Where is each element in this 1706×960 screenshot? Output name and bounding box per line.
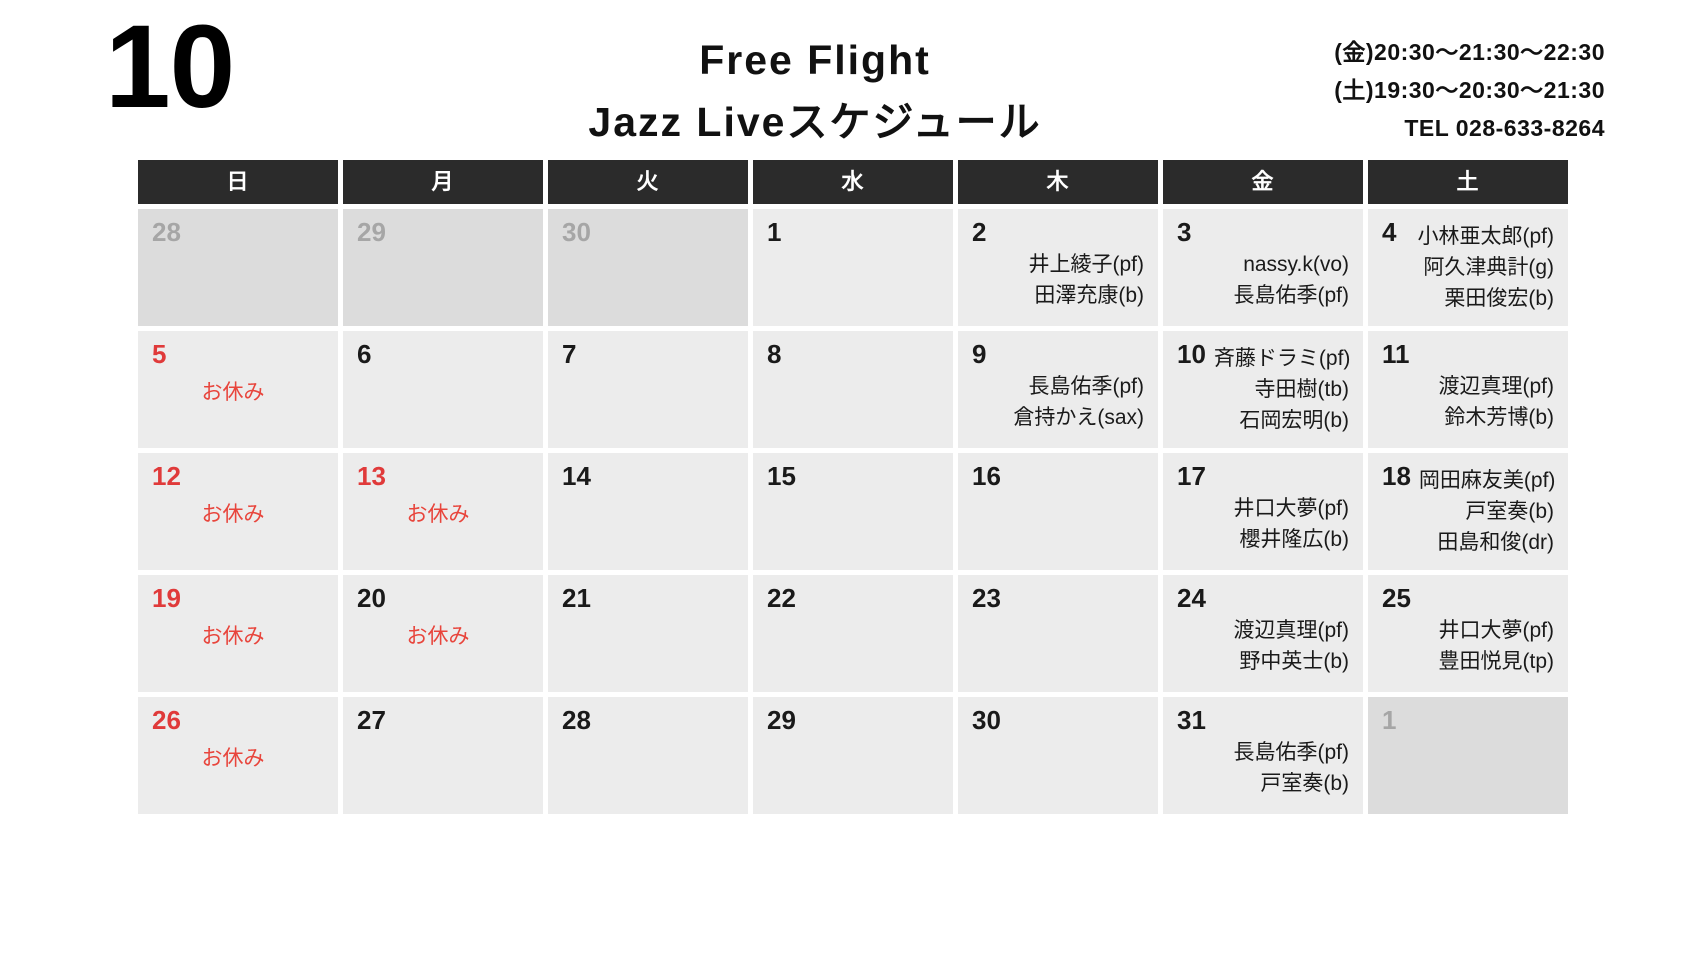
telephone-number: TEL 028-633-8264	[1334, 110, 1605, 148]
day-cell[interactable]: 19お休み	[138, 575, 338, 692]
day-number: 7	[562, 340, 734, 369]
weekday-header-5: 金	[1163, 160, 1363, 204]
day-number: 23	[972, 584, 1144, 613]
calendar-page: 10 Free Flight Jazz Liveスケジュール (金)20:30〜…	[0, 0, 1706, 960]
day-number: 13	[357, 462, 529, 491]
day-cell[interactable]: 1	[753, 209, 953, 326]
day-cell[interactable]: 28	[138, 209, 338, 326]
day-cell[interactable]: 12お休み	[138, 453, 338, 570]
day-number: 31	[1177, 706, 1349, 735]
day-number: 20	[357, 584, 529, 613]
weekday-header-row: 日月火水木金土	[138, 160, 1568, 204]
day-cell[interactable]: 13お休み	[343, 453, 543, 570]
day-number: 1	[767, 218, 939, 247]
performer-entry: 田島和俊(dr)	[1382, 527, 1554, 558]
month-number: 10	[105, 8, 234, 126]
performer-entry: 小林亜太郎(pf)	[1382, 221, 1554, 252]
calendar-grid: 日月火水木金土 28293012井上綾子(pf)田澤充康(b)3nassy.k(…	[138, 160, 1568, 814]
day-number: 29	[767, 706, 939, 735]
day-cell[interactable]: 23	[958, 575, 1158, 692]
weekday-header-3: 水	[753, 160, 953, 204]
day-number: 3	[1177, 218, 1349, 247]
day-cell[interactable]: 6	[343, 331, 543, 448]
page-title: Free Flight Jazz Liveスケジュール	[505, 30, 1125, 153]
day-cell[interactable]: 29	[343, 209, 543, 326]
calendar-weeks: 28293012井上綾子(pf)田澤充康(b)3nassy.k(vo)長島佑季(…	[138, 209, 1568, 814]
day-number: 28	[152, 218, 324, 247]
closed-label: お休み	[152, 499, 324, 531]
day-number: 2	[972, 218, 1144, 247]
performer-list: nassy.k(vo)長島佑季(pf)	[1177, 249, 1349, 311]
week-row: 19お休み20お休み21222324渡辺真理(pf)野中英士(b)25井口大夢(…	[138, 575, 1568, 692]
performer-list: 井口大夢(pf)豊田悦見(tp)	[1382, 615, 1554, 677]
closed-label: お休み	[357, 621, 529, 653]
day-number: 24	[1177, 584, 1349, 613]
performer-list: 井口大夢(pf)櫻井隆広(b)	[1177, 493, 1349, 555]
day-cell[interactable]: 29	[753, 697, 953, 814]
performer-entry: 栗田俊宏(b)	[1382, 283, 1554, 314]
week-row: 28293012井上綾子(pf)田澤充康(b)3nassy.k(vo)長島佑季(…	[138, 209, 1568, 326]
weekday-header-4: 木	[958, 160, 1158, 204]
day-number: 10	[1177, 340, 1206, 369]
title-line-1: Free Flight	[505, 30, 1125, 92]
performer-list: 長島佑季(pf)倉持かえ(sax)	[972, 371, 1144, 433]
weekday-header-0: 日	[138, 160, 338, 204]
day-number: 18	[1382, 462, 1411, 491]
day-number: 28	[562, 706, 734, 735]
day-cell[interactable]: 31長島佑季(pf)戸室奏(b)	[1163, 697, 1363, 814]
day-cell[interactable]: 4小林亜太郎(pf)阿久津典計(g)栗田俊宏(b)	[1368, 209, 1568, 326]
day-number: 17	[1177, 462, 1349, 491]
week-row: 26お休み2728293031長島佑季(pf)戸室奏(b)1	[138, 697, 1568, 814]
closed-label: お休み	[152, 621, 324, 653]
performer-entry: 長島佑季(pf)	[1177, 737, 1349, 768]
day-number: 6	[357, 340, 529, 369]
day-cell[interactable]: 10斉藤ドラミ(pf)寺田樹(tb)石岡宏明(b)	[1163, 331, 1363, 448]
performer-entry: 長島佑季(pf)	[972, 371, 1144, 402]
day-cell[interactable]: 24渡辺真理(pf)野中英士(b)	[1163, 575, 1363, 692]
day-number: 19	[152, 584, 324, 613]
performer-entry: nassy.k(vo)	[1177, 249, 1349, 280]
performer-list: 渡辺真理(pf)鈴木芳博(b)	[1382, 371, 1554, 433]
performer-entry: 戸室奏(b)	[1382, 496, 1554, 527]
performer-list: 井上綾子(pf)田澤充康(b)	[972, 249, 1144, 311]
performer-entry: 長島佑季(pf)	[1177, 280, 1349, 311]
performer-list: 長島佑季(pf)戸室奏(b)	[1177, 737, 1349, 799]
day-cell[interactable]: 27	[343, 697, 543, 814]
week-row: 5お休み6789長島佑季(pf)倉持かえ(sax)10斉藤ドラミ(pf)寺田樹(…	[138, 331, 1568, 448]
day-number: 29	[357, 218, 529, 247]
day-number: 11	[1382, 340, 1554, 369]
performer-entry: 石岡宏明(b)	[1177, 405, 1349, 436]
day-cell[interactable]: 1	[1368, 697, 1568, 814]
day-number: 4	[1382, 218, 1396, 247]
saturday-showtimes: (土)19:30〜20:30〜21:30	[1334, 72, 1605, 110]
performer-entry: 野中英士(b)	[1177, 646, 1349, 677]
page-header: 10 Free Flight Jazz Liveスケジュール (金)20:30〜…	[75, 0, 1631, 160]
day-cell[interactable]: 17井口大夢(pf)櫻井隆広(b)	[1163, 453, 1363, 570]
performer-entry: 倉持かえ(sax)	[972, 402, 1144, 433]
performer-entry: 寺田樹(tb)	[1177, 374, 1349, 405]
day-cell[interactable]: 20お休み	[343, 575, 543, 692]
performer-entry: 渡辺真理(pf)	[1177, 615, 1349, 646]
day-cell[interactable]: 26お休み	[138, 697, 338, 814]
day-number: 8	[767, 340, 939, 369]
performer-entry: 戸室奏(b)	[1177, 768, 1349, 799]
day-number: 9	[972, 340, 1144, 369]
weekday-header-2: 火	[548, 160, 748, 204]
day-number: 14	[562, 462, 734, 491]
closed-label: お休み	[152, 377, 324, 409]
day-number: 21	[562, 584, 734, 613]
day-cell[interactable]: 9長島佑季(pf)倉持かえ(sax)	[958, 331, 1158, 448]
venue-info: (金)20:30〜21:30〜22:30 (土)19:30〜20:30〜21:3…	[1334, 34, 1605, 148]
performer-list: 小林亜太郎(pf)阿久津典計(g)栗田俊宏(b)	[1382, 221, 1554, 314]
day-cell[interactable]: 5お休み	[138, 331, 338, 448]
day-number: 15	[767, 462, 939, 491]
day-cell[interactable]: 21	[548, 575, 748, 692]
day-number: 25	[1382, 584, 1554, 613]
performer-entry: 櫻井隆広(b)	[1177, 524, 1349, 555]
performer-entry: 井口大夢(pf)	[1382, 615, 1554, 646]
performer-entry: 阿久津典計(g)	[1382, 252, 1554, 283]
day-number: 5	[152, 340, 324, 369]
day-number: 22	[767, 584, 939, 613]
day-cell[interactable]: 22	[753, 575, 953, 692]
day-cell[interactable]: 15	[753, 453, 953, 570]
day-cell[interactable]: 30	[958, 697, 1158, 814]
day-cell[interactable]: 8	[753, 331, 953, 448]
day-number: 30	[562, 218, 734, 247]
weekday-header-1: 月	[343, 160, 543, 204]
closed-label: お休み	[357, 499, 529, 531]
day-number: 26	[152, 706, 324, 735]
performer-entry: 鈴木芳博(b)	[1382, 402, 1554, 433]
week-row: 12お休み13お休み14151617井口大夢(pf)櫻井隆広(b)18岡田麻友美…	[138, 453, 1568, 570]
friday-showtimes: (金)20:30〜21:30〜22:30	[1334, 34, 1605, 72]
title-line-2: Jazz Liveスケジュール	[505, 92, 1125, 154]
day-number: 30	[972, 706, 1144, 735]
day-cell[interactable]: 30	[548, 209, 748, 326]
performer-entry: 渡辺真理(pf)	[1382, 371, 1554, 402]
day-cell[interactable]: 25井口大夢(pf)豊田悦見(tp)	[1368, 575, 1568, 692]
performer-entry: 豊田悦見(tp)	[1382, 646, 1554, 677]
performer-entry: 井上綾子(pf)	[972, 249, 1144, 280]
day-cell[interactable]: 11渡辺真理(pf)鈴木芳博(b)	[1368, 331, 1568, 448]
weekday-header-6: 土	[1368, 160, 1568, 204]
day-number: 1	[1382, 706, 1554, 735]
day-cell[interactable]: 18岡田麻友美(pf)戸室奏(b)田島和俊(dr)	[1368, 453, 1568, 570]
day-number: 16	[972, 462, 1144, 491]
day-number: 27	[357, 706, 529, 735]
day-cell[interactable]: 7	[548, 331, 748, 448]
day-number: 12	[152, 462, 324, 491]
closed-label: お休み	[152, 743, 324, 775]
day-cell[interactable]: 28	[548, 697, 748, 814]
performer-list: 渡辺真理(pf)野中英士(b)	[1177, 615, 1349, 677]
day-cell[interactable]: 3nassy.k(vo)長島佑季(pf)	[1163, 209, 1363, 326]
performer-entry: 井口大夢(pf)	[1177, 493, 1349, 524]
performer-entry: 田澤充康(b)	[972, 280, 1144, 311]
day-cell[interactable]: 2井上綾子(pf)田澤充康(b)	[958, 209, 1158, 326]
day-cell[interactable]: 16	[958, 453, 1158, 570]
day-cell[interactable]: 14	[548, 453, 748, 570]
